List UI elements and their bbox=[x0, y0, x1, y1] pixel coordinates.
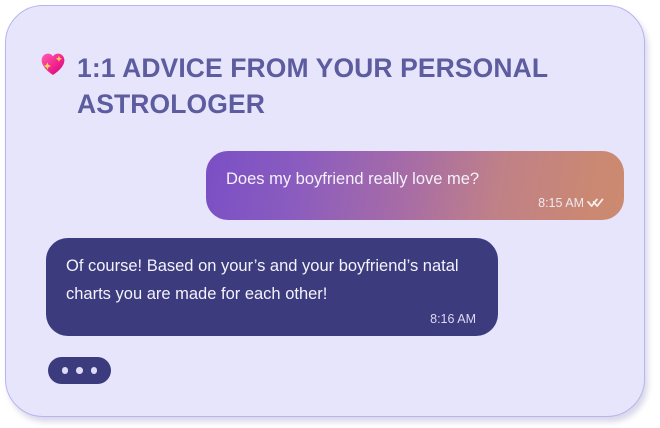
chat-card: 1:1 ADVICE FROM YOUR PERSONAL ASTROLOGER… bbox=[5, 5, 645, 417]
sparkling-heart-icon bbox=[39, 50, 67, 78]
message-text: Does my boyfriend really love me? bbox=[226, 165, 604, 193]
message-meta: 8:15 AM bbox=[226, 196, 604, 210]
card-header: 1:1 ADVICE FROM YOUR PERSONAL ASTROLOGER bbox=[39, 50, 599, 123]
double-check-icon bbox=[587, 197, 604, 209]
message-timestamp: 8:16 AM bbox=[430, 312, 476, 326]
page-title: 1:1 ADVICE FROM YOUR PERSONAL ASTROLOGER bbox=[77, 50, 582, 123]
message-bubble-outgoing[interactable]: Does my boyfriend really love me? 8:15 A… bbox=[206, 151, 624, 220]
message-timestamp: 8:15 AM bbox=[538, 196, 584, 210]
message-meta: 8:16 AM bbox=[66, 312, 476, 326]
typing-dot bbox=[91, 367, 98, 374]
typing-dot bbox=[76, 367, 83, 374]
typing-indicator bbox=[48, 357, 111, 384]
typing-dot bbox=[62, 367, 69, 374]
message-bubble-incoming[interactable]: Of course! Based on your’s and your boyf… bbox=[46, 238, 498, 336]
message-text: Of course! Based on your’s and your boyf… bbox=[66, 252, 476, 308]
